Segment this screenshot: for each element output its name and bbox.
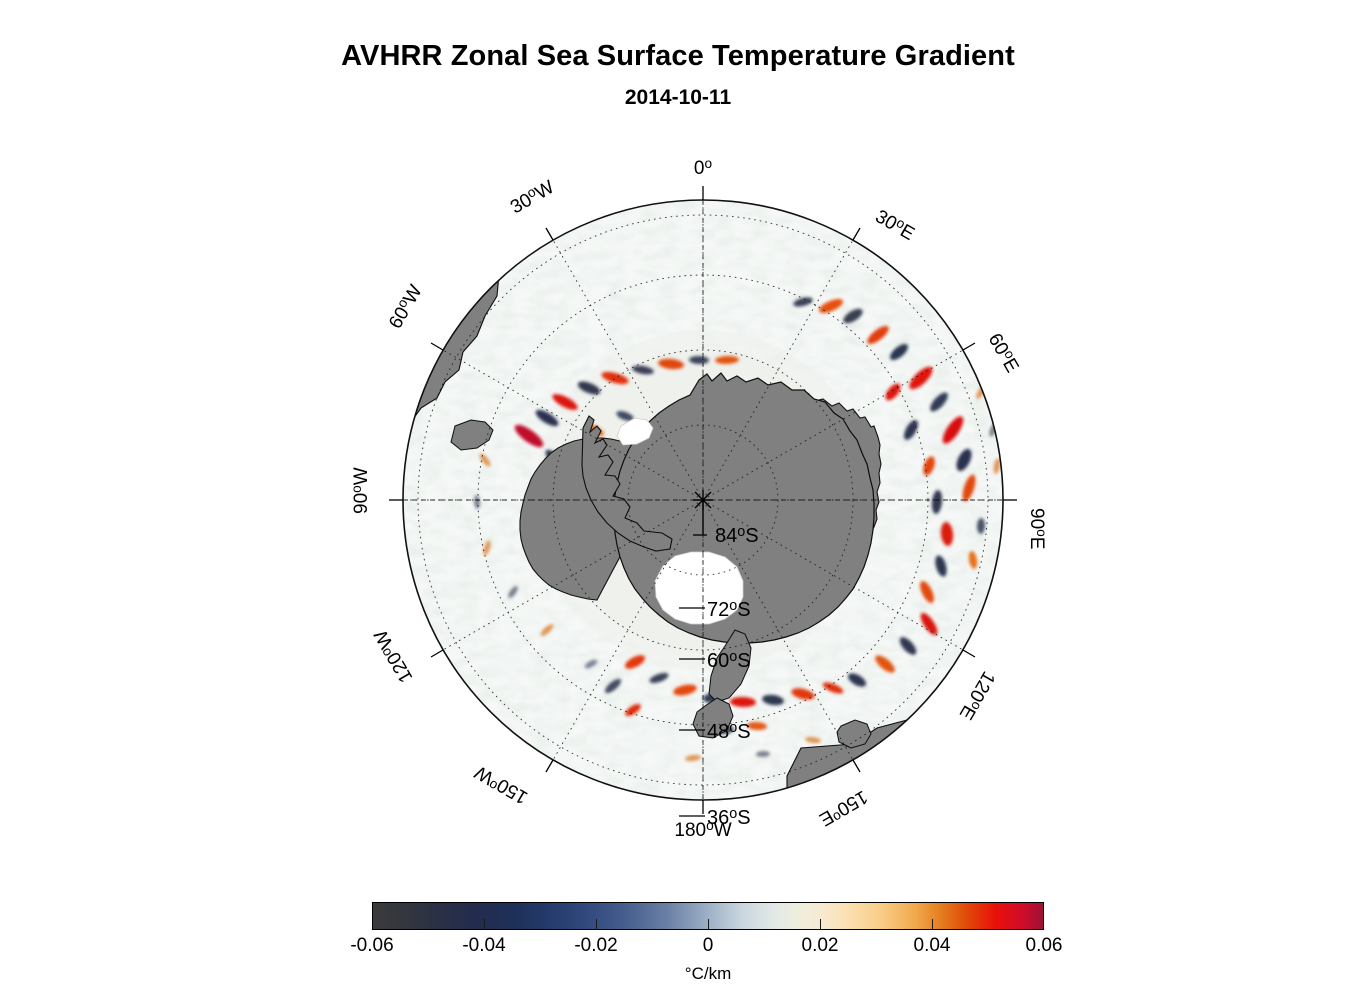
colorbar-label-0: -0.06: [312, 935, 432, 957]
figure-canvas: AVHRR Zonal Sea Surface Temperature Grad…: [0, 0, 1356, 1000]
lon-label-90E: 90oE: [1026, 508, 1049, 549]
colorbar: -0.06 -0.04 -0.02 0 0.02 0.04 0.06 °C/km: [372, 902, 1044, 998]
colorbar-label-5: 0.04: [872, 935, 992, 957]
polar-map-svg: 84oS 72oS 60oS 48oS 36oS: [333, 130, 1073, 870]
colorbar-label-1: -0.04: [424, 935, 544, 957]
landmass-africa: [757, 130, 977, 226]
colorbar-unit-label: °C/km: [372, 964, 1044, 984]
colorbar-label-4: 0.02: [760, 935, 880, 957]
lon-label-180W: 180oW: [674, 818, 731, 841]
colorbar-tick: [932, 919, 933, 930]
lat-label-48S: 48oS: [707, 720, 751, 743]
colorbar-label-2: -0.02: [536, 935, 656, 957]
lon-label-120W: 120oW: [369, 626, 418, 687]
figure-subtitle: 2014-10-11: [0, 86, 1356, 110]
colorbar-tick: [596, 919, 597, 930]
lon-label-0: 0o: [694, 156, 713, 179]
lat-label-60S: 60oS: [707, 649, 751, 672]
lon-label-60E: 60oE: [984, 329, 1025, 376]
lon-label-150E: 150oE: [815, 786, 872, 832]
lon-label-30E: 30oE: [872, 204, 919, 245]
lon-label-150W: 150oW: [470, 761, 531, 810]
colorbar-label-6: 0.06: [984, 935, 1104, 957]
colorbar-tick: [708, 919, 709, 930]
lon-label-60W: 60oW: [383, 281, 426, 333]
colorbar-tick: [820, 919, 821, 930]
polar-map: 84oS 72oS 60oS 48oS 36oS: [333, 130, 1073, 870]
lon-label-90W: 90oW: [349, 467, 372, 514]
lat-label-84S: 84oS: [715, 524, 759, 547]
lat-label-72S: 72oS: [707, 598, 751, 621]
colorbar-tick: [484, 919, 485, 930]
lon-label-30W: 30oW: [506, 175, 558, 218]
figure-title: AVHRR Zonal Sea Surface Temperature Grad…: [0, 40, 1356, 73]
lon-label-120E: 120oE: [955, 668, 1001, 725]
colorbar-label-3: 0: [648, 935, 768, 957]
